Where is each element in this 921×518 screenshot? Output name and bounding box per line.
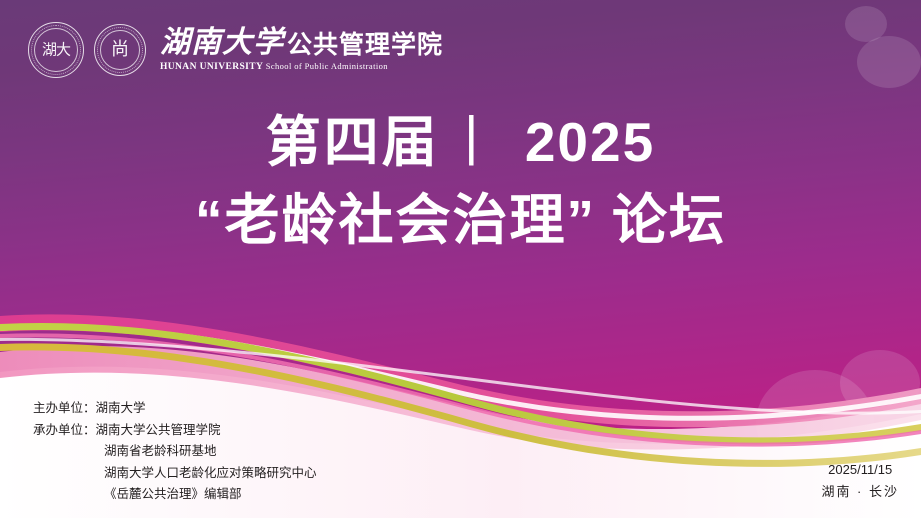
organizer-value-3: 《岳麓公共治理》编辑部 (104, 487, 242, 501)
host-line: 主办单位：湖南大学 (33, 398, 317, 420)
organizer-value-1: 湖南省老龄科研基地 (104, 444, 217, 458)
title-line-theme: “老龄社会治理”论坛 (0, 190, 921, 252)
title-year: 2025 (503, 111, 655, 173)
logo-school-name-cn: 公共管理学院 (287, 32, 443, 58)
decorative-circle-top-right-large (857, 36, 921, 88)
logo-wordmark: 湖南大学 公共管理学院 HUNAN UNIVERSITY School of P… (160, 28, 443, 73)
seal-secondary-glyph: 尚 (111, 41, 129, 59)
logo-english-row: HUNAN UNIVERSITY School of Public Admini… (160, 62, 443, 73)
decorative-circle-top-right-small (845, 6, 887, 42)
organizer-line-1: 湖南省老龄科研基地 (33, 441, 317, 463)
organizer-value-0: 湖南大学公共管理学院 (96, 423, 221, 437)
host-value: 湖南大学 (96, 401, 146, 415)
title-separator-bar: 丨 (440, 111, 503, 173)
event-meta-block: 2025/11/15 湖南 · 长沙 (821, 459, 899, 502)
title-theme: “老龄社会治理” (195, 189, 596, 251)
organizer-value-2: 湖南大学人口老龄化应对策略研究中心 (104, 466, 317, 480)
event-location: 湖南 · 长沙 (821, 481, 899, 502)
organizer-line-3: 《岳麓公共治理》编辑部 (33, 484, 317, 506)
hunan-university-seal-icon: 湖大 (28, 22, 84, 78)
event-date: 2025/11/15 (821, 459, 899, 480)
seal-primary-glyph: 湖大 (42, 43, 70, 58)
school-seal-icon: 尚 (94, 24, 146, 76)
institution-logo-lockup: 湖大 尚 湖南大学 公共管理学院 HUNAN UNIVERSITY School… (28, 22, 443, 78)
presentation-slide: 湖大 尚 湖南大学 公共管理学院 HUNAN UNIVERSITY School… (0, 0, 921, 518)
logo-chinese-row: 湖南大学 公共管理学院 (160, 28, 443, 58)
logo-university-name-cn: 湖南大学 (160, 28, 284, 58)
host-label: 主办单位： (33, 401, 96, 415)
decorative-circle-bottom-right-small (840, 350, 920, 416)
title-event-type: 论坛 (596, 189, 726, 251)
slide-title-block: 第四届丨2025 “老龄社会治理”论坛 (0, 112, 921, 251)
title-edition: 第四届 (266, 111, 440, 173)
organizer-line-primary: 承办单位：湖南大学公共管理学院 (33, 420, 317, 442)
logo-school-name-en: School of Public Administration (266, 61, 388, 71)
logo-university-name-en: HUNAN UNIVERSITY (160, 62, 263, 72)
title-line-edition-year: 第四届丨2025 (0, 112, 921, 174)
organizer-label: 承办单位： (33, 423, 96, 437)
organizers-block: 主办单位：湖南大学 承办单位：湖南大学公共管理学院 湖南省老龄科研基地 湖南大学… (33, 398, 317, 506)
organizer-line-2: 湖南大学人口老龄化应对策略研究中心 (33, 463, 317, 485)
